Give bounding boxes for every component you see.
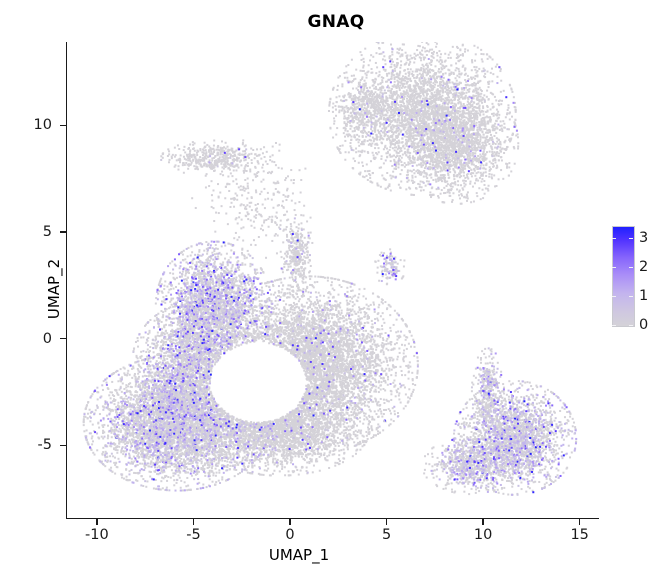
y-tick-mark <box>60 125 66 126</box>
y-tick-mark <box>60 445 66 446</box>
x-tick-mark <box>96 519 97 525</box>
feature-plot-root: GNAQ 1050-5-10-5051015 UMAP_1 UMAP_2 321… <box>0 0 672 576</box>
x-tick-mark <box>579 519 580 525</box>
y-axis-line <box>66 42 67 519</box>
colorbar-tick <box>612 267 616 268</box>
colorbar-label: 0 <box>639 317 648 333</box>
colorbar-tick <box>629 325 633 326</box>
x-tick-mark <box>386 519 387 525</box>
colorbar-gradient <box>612 226 635 327</box>
colorbar-legend: 3210 <box>612 226 666 330</box>
x-tick-label: 5 <box>382 527 391 543</box>
x-tick-mark <box>289 519 290 525</box>
x-tick-label: 0 <box>285 527 294 543</box>
colorbar-label: 1 <box>639 288 648 304</box>
colorbar-tick <box>612 325 616 326</box>
page-title: GNAQ <box>0 12 672 32</box>
colorbar-tick <box>612 296 616 297</box>
colorbar-tick <box>629 238 633 239</box>
x-tick-mark <box>482 519 483 525</box>
x-tick-label: 10 <box>474 527 492 543</box>
colorbar-tick <box>629 267 633 268</box>
x-tick-label: -5 <box>186 527 200 543</box>
x-tick-label: 15 <box>570 527 588 543</box>
x-axis-title: UMAP_1 <box>0 546 598 564</box>
colorbar-tick <box>612 238 616 239</box>
x-axis-line <box>66 518 599 519</box>
scatter-canvas <box>66 42 599 518</box>
y-axis-title: UMAP_2 <box>45 229 63 349</box>
colorbar-label: 3 <box>639 230 648 246</box>
colorbar-label: 2 <box>639 259 648 275</box>
x-tick-mark <box>193 519 194 525</box>
y-tick-label: -5 <box>8 437 52 453</box>
x-tick-label: -10 <box>85 527 109 543</box>
colorbar-tick <box>629 296 633 297</box>
y-tick-label: 10 <box>8 117 52 133</box>
